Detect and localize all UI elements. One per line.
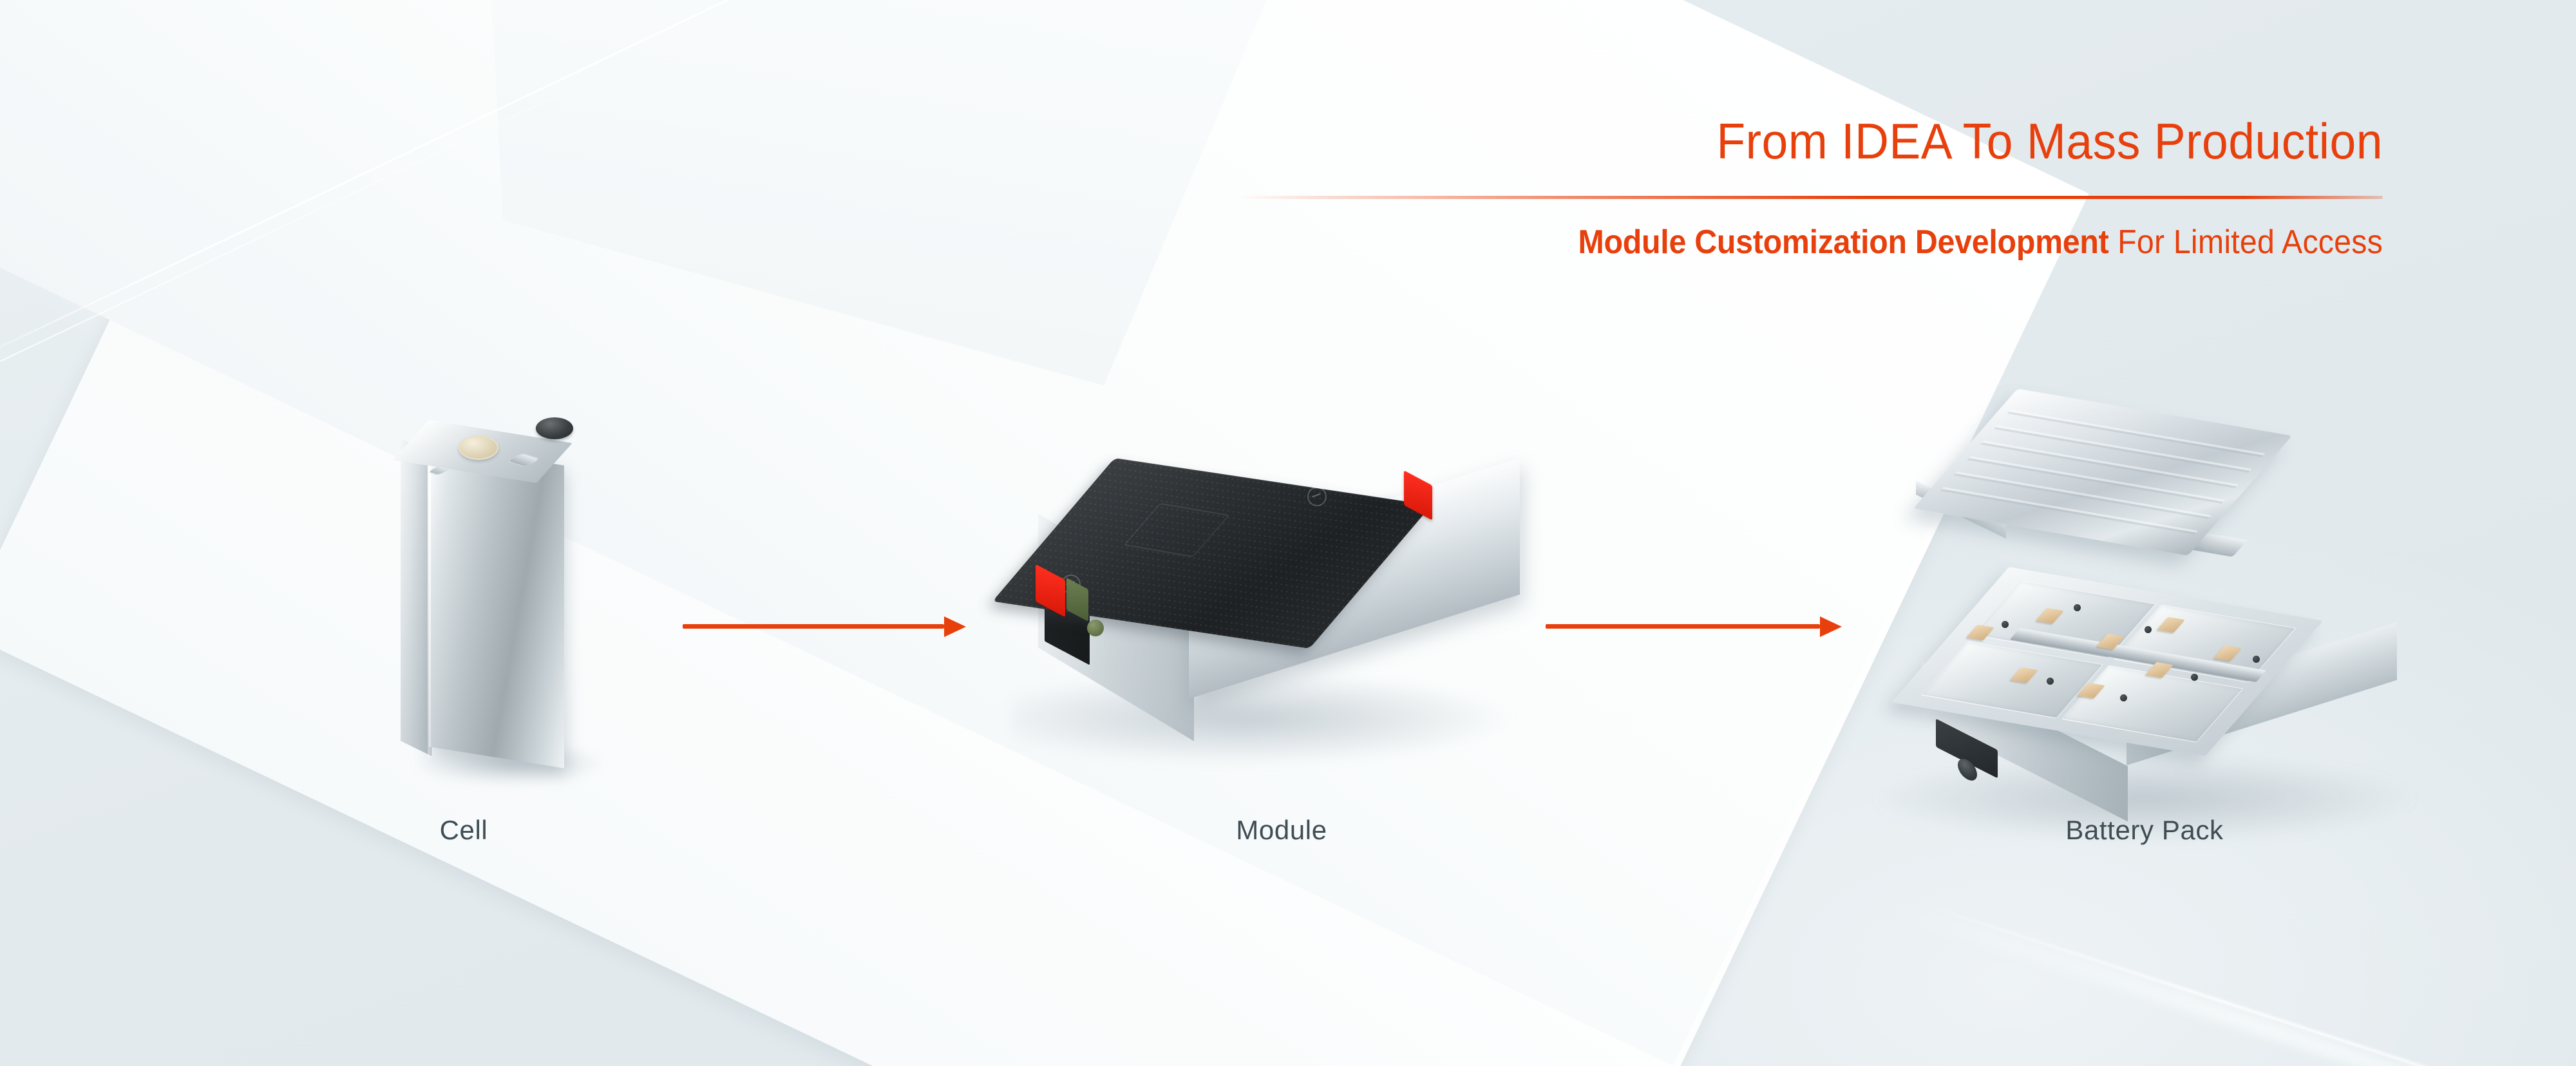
flow-step-cell [386, 412, 657, 812]
hero-banner: From IDEA To Mass Production Module Cust… [0, 0, 2576, 1066]
subtitle-light: For Limited Access [2109, 224, 2383, 261]
page-subtitle: Module Customization Development For Lim… [1245, 225, 2383, 260]
flow-step-battery-pack [1848, 406, 2454, 805]
caption-cell: Cell [270, 815, 657, 846]
arrow-shaft [683, 624, 944, 629]
caption-battery-pack: Battery Pack [1951, 815, 2338, 846]
cell-side-face [401, 438, 431, 756]
pack-lid [1913, 388, 2292, 555]
arrow-cell-to-module [683, 613, 966, 639]
heading-divider [1236, 196, 2383, 199]
pack-bolt-icon [2047, 678, 2054, 685]
cell-front-face [429, 444, 564, 768]
module-shadow [1011, 670, 1526, 766]
caption-module: Module [1088, 815, 1475, 846]
page-title: From IDEA To Mass Production [1233, 116, 2383, 166]
pack-bolt-icon [2253, 656, 2260, 663]
cell-edge-highlight [428, 459, 431, 759]
pack-bolt-icon [2145, 626, 2152, 633]
arrow-module-to-pack [1546, 613, 1842, 639]
module-screw-icon [1307, 487, 1327, 506]
cell-vent-icon [506, 453, 541, 468]
background-floor-line [0, 0, 779, 362]
arrow-head-icon [944, 616, 966, 637]
module-green-connector-round [1087, 620, 1104, 636]
flow-step-module [1005, 457, 1558, 792]
background-streak-glow [1882, 897, 2576, 1066]
heading-block: From IDEA To Mass Production Module Cust… [1159, 116, 2383, 260]
pack-bolt-icon [2120, 694, 2127, 701]
arrow-shaft [1546, 624, 1820, 629]
pack-bolt-icon [2002, 621, 2009, 628]
subtitle-strong: Module Customization Development [1578, 224, 2109, 261]
pack-tray [1888, 587, 2403, 781]
background-fold-edge [0, 0, 797, 379]
pack-bolt-icon [2074, 604, 2081, 611]
background-streak [1899, 895, 2576, 1066]
cell-positive-terminal [459, 435, 498, 460]
cell-negative-terminal [536, 417, 573, 439]
arrow-head-icon [1820, 616, 1842, 637]
pack-bolt-icon [2191, 674, 2198, 681]
